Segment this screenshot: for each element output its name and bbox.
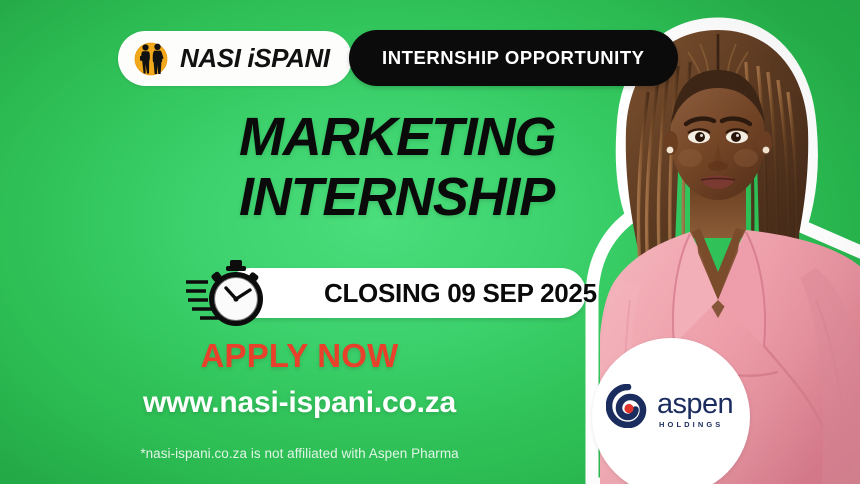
headline-line-2: INTERNSHIP [239,170,639,224]
page-title: MARKETING INTERNSHIP [239,110,639,224]
internship-poster: NASI iSPANI INTERNSHIP OPPORTUNITY MARKE… [0,0,860,484]
apply-now-text: APPLY NOW [0,337,599,375]
internship-opportunity-badge: INTERNSHIP OPPORTUNITY [349,30,678,86]
aspen-tagline: HOLDINGS [659,420,733,429]
aspen-spiral-icon [606,384,650,433]
aspen-name: aspen [657,391,733,417]
disclaimer-text: *nasi-ispani.co.za is not affiliated wit… [0,446,599,461]
headline-line-1: MARKETING [239,110,639,164]
two-people-silhouette-icon [128,36,174,82]
nasi-ispani-logo[interactable]: NASI iSPANI [118,31,352,86]
logo-wordmark: NASI iSPANI [180,43,330,74]
website-url[interactable]: www.nasi-ispani.co.za [0,386,599,420]
closing-date-label: CLOSING 09 SEP 2025 [324,278,597,309]
badge-label: INTERNSHIP OPPORTUNITY [382,47,645,69]
stopwatch-icon [186,257,282,331]
aspen-holdings-logo: aspen HOLDINGS [592,338,750,484]
closing-date-block: CLOSING 09 SEP 2025 [186,257,586,331]
